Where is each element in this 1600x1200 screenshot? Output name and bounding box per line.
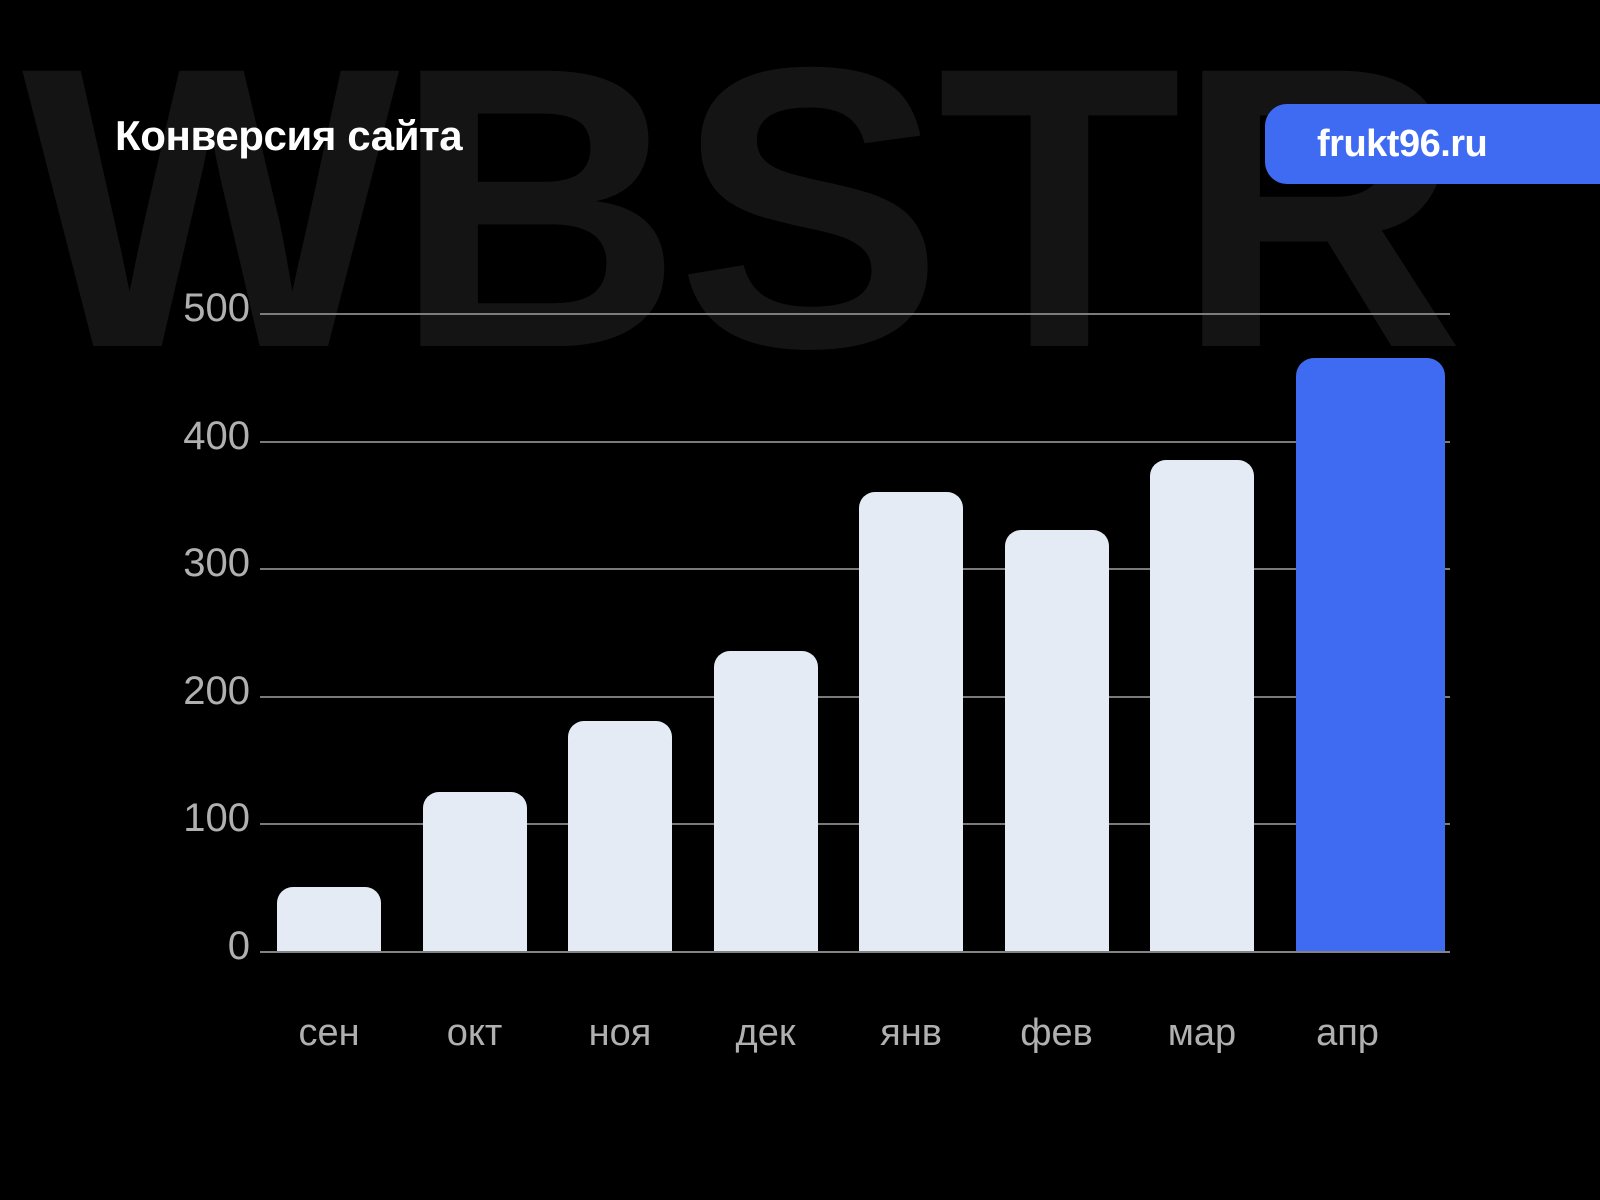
bar-мар[interactable] <box>1150 460 1254 951</box>
page-title: Конверсия сайта <box>115 112 462 160</box>
x-tick-label-янв: янв <box>831 1012 991 1055</box>
bar-фев[interactable] <box>1005 530 1109 951</box>
bar-сен[interactable] <box>277 887 381 951</box>
x-tick-label-сен: сен <box>249 1012 409 1055</box>
x-tick-label-дек: дек <box>686 1012 846 1055</box>
x-tick-label-окт: окт <box>395 1012 555 1055</box>
bar-ноя[interactable] <box>568 721 672 951</box>
x-tick-label-фев: фев <box>977 1012 1137 1055</box>
chart-canvas: WBSTR Конверсия сайта frukt96.ru 0100200… <box>0 0 1600 1200</box>
bar-янв[interactable] <box>859 492 963 951</box>
site-badge-label: frukt96.ru <box>1317 123 1487 166</box>
x-tick-label-мар: мар <box>1122 1012 1282 1055</box>
bar-апр[interactable] <box>1296 358 1446 951</box>
bar-дек[interactable] <box>714 651 818 951</box>
x-tick-label-ноя: ноя <box>540 1012 700 1055</box>
site-badge[interactable]: frukt96.ru <box>1265 104 1600 184</box>
x-tick-label-апр: апр <box>1268 1012 1428 1055</box>
bar-окт[interactable] <box>423 792 527 952</box>
